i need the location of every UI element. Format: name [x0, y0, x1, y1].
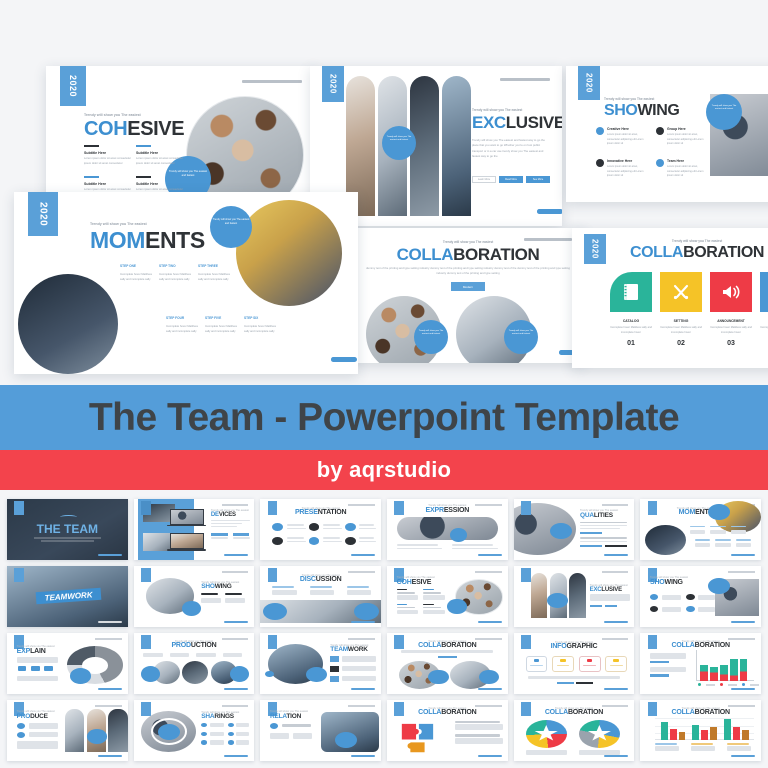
thumb-title-rest: WING	[665, 579, 683, 586]
thumb-devices[interactable]: Trendy will show you The easiest DEVICES	[134, 499, 255, 560]
thumbnail-cell[interactable]: Trendy will show you The easiest RELATIO…	[257, 697, 384, 764]
thumb-title: RELATION	[270, 713, 301, 720]
legend-label	[706, 684, 715, 686]
thumb-title: DISCUSSION	[260, 576, 381, 583]
bullet-dot-icon	[656, 127, 664, 135]
icon-bullet	[345, 523, 356, 531]
text-line	[580, 522, 627, 524]
slide-header-meta	[348, 504, 375, 506]
thumb-collaboration-circles[interactable]: Trendy will show you The easiest COLLABO…	[387, 633, 508, 694]
thumb-title-accent: EXC	[590, 587, 602, 593]
text-line	[736, 543, 752, 547]
thumb-footer-tag	[604, 554, 628, 556]
thumb-footer-tag	[224, 621, 248, 623]
thumb-footer-tag	[731, 755, 755, 757]
thumb-cohesive[interactable]: Trendy will show you The easiest COHESIV…	[387, 566, 508, 627]
thumb-collaboration-stacked-chart[interactable]: Trendy will show you The easiest COLLABO…	[640, 633, 761, 694]
thumb-title-rest: TEAM	[61, 522, 98, 536]
thumb-footer-tag	[478, 688, 502, 690]
icon-bullet	[309, 523, 320, 531]
accent-circle	[547, 593, 568, 608]
slide-photo	[65, 709, 84, 753]
text-line	[323, 541, 342, 542]
thumbnail-cell[interactable]: THE TEAM	[4, 496, 131, 563]
thumb-qualities[interactable]: Trendy will show you The easiest QUALITI…	[514, 499, 635, 560]
card-label	[530, 665, 543, 667]
thumb-showing-2[interactable]: Trendy will show you The easiest SHOWING	[640, 566, 761, 627]
thumb-title-accent: COLLA	[418, 709, 441, 716]
step-label	[736, 539, 752, 540]
text-line	[17, 741, 58, 748]
thumb-title-accent: COLLA	[671, 642, 694, 649]
thumb-title-accent: QUA	[580, 512, 594, 519]
thumb-title-rest: BORATION	[441, 642, 476, 649]
tag-chip-dark	[576, 682, 593, 684]
text-line	[698, 607, 715, 612]
pagination-dots[interactable]	[559, 350, 572, 355]
divider	[423, 604, 434, 605]
chart-bar	[661, 722, 668, 740]
thumb-footer-tag	[98, 621, 122, 623]
thumb-title-rest: TION	[286, 713, 301, 720]
step-body: Incomplete hover Maldives sally and inco…	[205, 324, 243, 334]
bullet-dot-icon	[228, 723, 234, 727]
thumb-sharings[interactable]: Trendy will show you The easiest SHARING…	[134, 700, 255, 761]
circle-caption: Trendy will show you The easiest and fas…	[212, 218, 250, 226]
thumbnail-cell[interactable]: Trendy will show you The easiest EXPLAIN	[4, 630, 131, 697]
thumbnail-cell[interactable]: Trendy will show you The easiest TEAMWOR…	[257, 630, 384, 697]
slide-badge	[141, 568, 151, 581]
slide-header-meta	[222, 571, 249, 573]
thumb-title-accent: PRESE	[295, 509, 318, 516]
thumb-showing-stats[interactable]: Trendy will show you The easiest SHOWING	[134, 566, 255, 627]
list-icon-dark	[330, 666, 338, 672]
text-line	[287, 537, 304, 539]
icon-bullet	[309, 537, 320, 545]
text-line	[287, 541, 306, 542]
column-heading	[272, 586, 294, 588]
text-line	[710, 530, 726, 534]
thumb-footer-tag	[731, 688, 755, 690]
tag-chip	[605, 605, 617, 607]
thumb-title-accent: COLLA	[545, 709, 568, 716]
card-number: 02	[660, 340, 702, 347]
tools-icon	[672, 283, 690, 301]
text-line	[225, 598, 244, 603]
chart-legend	[698, 683, 759, 686]
thumb-collaboration-puzzle[interactable]: Trendy will show you The easiest COLLABO…	[387, 700, 508, 761]
thumb-footer-tag	[604, 688, 628, 690]
poster-canvas: 2020 Trendy will show you The easiest CO…	[0, 0, 768, 768]
text-line	[211, 537, 228, 538]
feature-column: Subtitle Here Lorem ipsum dolor sit amet…	[84, 145, 132, 166]
hero-slide-collaboration-photos[interactable]: Trendy will show you The easiest COLLABO…	[352, 228, 584, 363]
chart-bar	[720, 665, 728, 680]
step-item: STEP SIX Incomplete hover Maldives sally…	[244, 316, 282, 334]
feature-heading: Subtitle Here	[84, 182, 132, 186]
bar-chart	[696, 650, 754, 681]
text-line	[359, 528, 376, 529]
bullet-dot-icon	[201, 732, 207, 736]
slide-photo	[531, 573, 548, 618]
legend-swatch	[720, 683, 723, 686]
slide-header-meta	[222, 504, 249, 506]
step-label: STEP THREE	[198, 264, 236, 268]
thumb-collaboration-grouped-chart[interactable]: Trendy will show you The easiest COLLABO…	[640, 700, 761, 761]
see-more-button[interactable]: See More	[526, 176, 550, 183]
slide-badge	[14, 501, 24, 514]
text-line	[526, 750, 567, 755]
text-line	[690, 530, 706, 534]
thumb-title-rest: ESSION	[444, 507, 469, 514]
slide-header-meta	[602, 571, 629, 573]
feature-card[interactable]: CATALOG Incomplete hover Maldives sally …	[610, 272, 652, 347]
step-label	[695, 539, 711, 540]
slide-badge	[141, 501, 151, 514]
slide-badge	[141, 702, 151, 715]
thumbnail-cell[interactable]: Trendy will show you The easiest INFOGRA…	[511, 630, 638, 697]
step-body: Incomplete hover Maldives sally and inco…	[120, 272, 158, 282]
thumb-title-rest: RINGS	[214, 713, 234, 720]
thumbnail-cell[interactable]: Trendy will show you The easiest PRESENT…	[257, 496, 384, 563]
text-line	[580, 525, 627, 526]
bullet-dot-icon	[270, 723, 278, 729]
thumb-production[interactable]: Trendy will show you The easiest PRODUCT…	[134, 633, 255, 694]
pagination-dots[interactable]	[537, 209, 550, 214]
icon-bullet	[272, 523, 283, 531]
slide-title-accent: EXC	[472, 113, 506, 132]
hero-slide-collaboration-icons[interactable]: 2020 Trendy will show you The easiest CO…	[572, 228, 768, 368]
device-screen	[170, 509, 204, 525]
slide-title-rest: BORATION	[453, 245, 539, 264]
hero-slide-cohesive[interactable]: 2020 Trendy will show you The easiest CO…	[46, 66, 316, 211]
thumbnail-cell[interactable]: Trendy will show you The easiest COHESIV…	[384, 563, 511, 630]
feature-body: Lorem ipsum dolor sit amet, consectetur …	[667, 165, 708, 179]
thumb-title-rest: LUSIVE	[601, 587, 621, 593]
thumbnail-cell[interactable]: TEAMWORK	[4, 563, 131, 630]
text-line	[590, 594, 630, 601]
text-line	[17, 657, 58, 662]
text-line	[233, 537, 250, 538]
step-item: STEP THREE Incomplete hover Maldives sal…	[198, 264, 236, 282]
step-body: Incomplete hover Maldives sally and inco…	[159, 272, 197, 282]
step-label: STEP SIX	[244, 316, 282, 320]
circle-caption: Trendy will show you The easiest and fas…	[416, 330, 446, 337]
text-line	[650, 667, 686, 672]
thumbnail-cell[interactable]: Trendy will show you The easiest DEVICES	[131, 496, 258, 563]
text-line	[143, 653, 162, 657]
thumbnail-cell[interactable]: Trendy will show you The easiest MOMENTS	[637, 496, 764, 563]
step-item: STEP ONE Incomplete hover Maldives sally…	[120, 264, 158, 282]
thumb-title-rest: BORATION	[695, 709, 730, 716]
chart-bar	[701, 730, 708, 740]
circle-caption: Trendy will show you The easiest and fas…	[384, 136, 414, 143]
thumb-discussion[interactable]: Trendy will show you The easiest DISCUSS…	[260, 566, 381, 627]
tag-chip	[233, 533, 250, 535]
feature-heading: Subtitle Here	[84, 151, 132, 155]
hero-slide-moments[interactable]: 2020 Trendy will show you The easiest MO…	[14, 192, 358, 374]
accent-circle	[230, 666, 249, 682]
card-body: Incomplete hover Maldives sally and inco…	[660, 326, 702, 335]
read-more-button[interactable]: Read More	[499, 176, 523, 183]
thumb-explain[interactable]: Trendy will show you The easiest EXPLAIN	[7, 633, 128, 694]
thumb-collaboration-donuts[interactable]: Trendy will show you The easiest COLLABO…	[514, 700, 635, 761]
thumb-title: EXCLUSIVE	[590, 587, 622, 593]
legend-swatch	[742, 683, 745, 686]
thumb-footer-tag	[731, 621, 755, 623]
thumb-infographic[interactable]: Trendy will show you The easiest INFOGRA…	[514, 633, 635, 694]
info-card[interactable]	[579, 656, 601, 672]
divider	[423, 589, 434, 590]
mini-icon	[18, 666, 26, 671]
thumb-produce[interactable]: Trendy will show you The easiest PRODUCE	[7, 700, 128, 761]
thumb-title-accent: TEAM	[44, 592, 67, 603]
thumbnail-cell[interactable]: Trendy will show you The easiest COLLABO…	[384, 630, 511, 697]
slide-header-meta	[602, 638, 629, 640]
modern-button[interactable]: Modern	[451, 282, 485, 291]
accent-circle	[210, 206, 252, 248]
slide-header-meta	[222, 705, 249, 707]
bullet-dot-icon	[596, 159, 604, 167]
slide-photo	[569, 573, 586, 618]
slide-header-meta	[602, 504, 629, 506]
thumb-footer-tag	[478, 621, 502, 623]
chart-gridline	[655, 718, 754, 719]
text-line	[455, 738, 503, 744]
thumb-footer-tag	[478, 554, 502, 556]
thumb-title-accent: SHA	[201, 713, 214, 720]
thumb-title-accent: INFO	[551, 643, 567, 650]
slide-photo	[236, 200, 342, 306]
icon-tile	[710, 272, 752, 312]
slide-title: MOMENTS	[90, 227, 205, 254]
feature-card[interactable]: ANNOUNCEMENT Incomplete hover Maldives s…	[710, 272, 752, 347]
text-line	[423, 595, 445, 599]
slide-badge	[521, 501, 531, 514]
text-line	[236, 740, 249, 744]
thumb-title-rest: UCTION	[191, 642, 217, 649]
slide-kicker: Trendy will show you The easiest	[612, 239, 768, 243]
text-line	[236, 723, 249, 727]
thumb-title-accent: PROD	[171, 642, 190, 649]
text-line	[236, 732, 249, 736]
step-body: Incomplete hover Maldives sally and inco…	[166, 324, 204, 334]
thumb-title-rest: DUCE	[30, 713, 48, 720]
thumb-footer-tag	[731, 554, 755, 556]
slide-title-accent: MOM	[90, 227, 145, 253]
pagination-dots[interactable]	[331, 357, 344, 362]
text-line	[342, 656, 376, 661]
text-line	[727, 746, 751, 751]
text-line	[211, 520, 250, 521]
tag-chip	[580, 545, 602, 547]
bullet-dot-icon	[201, 740, 207, 744]
text-line	[310, 590, 334, 595]
accent-circle	[708, 578, 730, 594]
slide-title-accent: COLLA	[397, 245, 454, 264]
thumb-title-rest: BORATION	[568, 709, 603, 716]
thumb-teamwork-cover[interactable]: TEAMWORK	[7, 566, 128, 627]
accent-circle	[708, 504, 730, 520]
feature-card[interactable]: AGENDA Incomplete hover Maldives sally a…	[760, 272, 768, 347]
hero-slide-showing[interactable]: 2020 Trendy will show you The easiest SH…	[566, 66, 768, 202]
divider	[397, 604, 408, 605]
bullet-dot-icon	[17, 732, 25, 738]
thumb-footer-tag	[351, 755, 375, 757]
accent-circle	[306, 667, 327, 682]
chart-bar	[710, 667, 718, 680]
card-label: CATALOG	[610, 319, 652, 323]
text-line	[210, 723, 224, 727]
chart-bar	[742, 730, 749, 740]
text-line	[17, 676, 58, 681]
bullet-dot-icon	[228, 740, 234, 744]
thumbnail-cell[interactable]: Trendy will show you The easiest EXCLUSI…	[511, 563, 638, 630]
step-item: STEP TWO Incomplete hover Maldives sally…	[159, 264, 197, 282]
thumb-title-rest: VICES	[219, 512, 236, 518]
thumb-title-accent: THE	[37, 522, 61, 536]
info-card[interactable]	[605, 656, 627, 672]
thumb-footer-tag	[478, 755, 502, 757]
thumbnail-cell[interactable]: Trendy will show you The easiest SHOWING	[131, 563, 258, 630]
card-label: ANNOUNCEMENT	[710, 319, 752, 323]
feature-heading: Subtitle Here	[136, 182, 184, 186]
thumbnail-cell[interactable]: Trendy will show you The easiest PRODUCE	[4, 697, 131, 764]
thumbnail-cell[interactable]: Trendy will show you The easiest SHARING…	[131, 697, 258, 764]
text-line	[455, 724, 503, 730]
thumb-exclusive[interactable]: Trendy will show you The easiest EXCLUSI…	[514, 566, 635, 627]
column-heading	[347, 586, 369, 588]
slide-title: COLLABORATION	[612, 244, 768, 262]
thumb-title-rest: WORK	[348, 646, 368, 653]
card-body: Incomplete hover Maldives sally and inco…	[610, 326, 652, 335]
thumb-relation[interactable]: Trendy will show you The easiest RELATIO…	[260, 700, 381, 761]
thumb-footer-tag	[224, 554, 248, 556]
bullet-dot-icon	[201, 723, 207, 727]
icon-tile	[760, 272, 768, 312]
text-line	[662, 607, 681, 612]
slide-photo	[108, 709, 127, 753]
thumb-title-rest: WORK	[67, 590, 93, 601]
thumbnail-cell[interactable]: Trendy will show you The easiest PRODUCT…	[131, 630, 258, 697]
text-line	[655, 746, 679, 751]
accent-circle	[447, 599, 466, 614]
text-line	[282, 724, 311, 726]
thumb-footer-tag	[351, 621, 375, 623]
info-card[interactable]	[552, 656, 574, 672]
thumb-title: DEVICES	[211, 512, 236, 518]
slide-badge	[14, 568, 24, 581]
thumb-title: EXPRESSION	[387, 507, 508, 514]
step-label	[715, 539, 731, 540]
device-base	[167, 549, 206, 551]
slide-body: Trendy will show you The easiest and fas…	[472, 138, 550, 159]
text-line	[397, 548, 443, 549]
thumbnail-cell[interactable]: Trendy will show you The easiest SHOWING	[637, 563, 764, 630]
feature-body: Lorem ipsum dolor sit amet consectetur i…	[84, 157, 132, 166]
thumbnail-cell[interactable]: Trendy will show you The easiest COLLABO…	[384, 697, 511, 764]
thumb-subline	[34, 537, 102, 539]
thumb-teamwork-list[interactable]: Trendy will show you The easiest TEAMWOR…	[260, 633, 381, 694]
column-heading	[423, 607, 441, 609]
text-line	[452, 548, 498, 549]
thumb-footer-tag	[351, 688, 375, 690]
notebook-icon	[623, 283, 639, 301]
slide-title-rest: LUSIVE	[506, 113, 562, 132]
thumb-the-team[interactable]: THE TEAM	[7, 499, 128, 560]
thumb-title-accent: COLLA	[418, 642, 441, 649]
slide-title-accent: COH	[84, 118, 127, 140]
feature-card[interactable]: SETTING Incomplete hover Maldives sally …	[660, 272, 702, 347]
slide-title-rest: ESIVE	[127, 118, 184, 140]
legend-label	[728, 684, 737, 686]
feature-label: Team Here	[667, 159, 708, 163]
megaphone-icon	[722, 284, 741, 300]
slide-title-rest: BORATION	[683, 244, 764, 261]
thumb-title: SHOWING	[650, 579, 683, 586]
thumbnail-cell[interactable]: Trendy will show you The easiest COLLABO…	[511, 697, 638, 764]
thumbnail-cell[interactable]: Trendy will show you The easiest COLLABO…	[637, 697, 764, 764]
slide-header-meta	[348, 638, 375, 640]
chart-bar	[692, 725, 699, 740]
bullet-dot-icon	[686, 594, 694, 600]
text-line	[452, 544, 493, 546]
column-heading	[397, 592, 415, 594]
slide-kicker: Trendy will show you The easiest	[84, 113, 141, 117]
tag-chip	[211, 533, 228, 535]
chart-bar	[730, 659, 738, 680]
year-badge: 2020	[322, 66, 344, 102]
tag-chip	[650, 661, 669, 663]
text-line	[423, 610, 445, 614]
slide-photo	[442, 76, 471, 216]
thumbnail-cell[interactable]: Trendy will show you The easiest QUALITI…	[511, 496, 638, 563]
text-line	[455, 721, 501, 723]
text-line	[210, 740, 224, 744]
thumbnail-cell[interactable]: Trendy will show you The easiest COLLABO…	[637, 630, 764, 697]
tag-chip-dark	[605, 545, 627, 547]
slide-title-rest: ENTS	[145, 227, 205, 253]
slide-header-meta	[95, 638, 122, 640]
year-badge: 2020	[28, 192, 58, 236]
accent-circle	[382, 126, 416, 160]
info-card[interactable]	[526, 656, 548, 672]
thumbnail-cell[interactable]: Trendy will show you The easiest DISCUSS…	[257, 563, 384, 630]
thumb-expression[interactable]: Trendy will show you The easiest EXPRESS…	[387, 499, 508, 560]
thumb-title: QUALITIES	[580, 512, 613, 519]
card-label	[583, 665, 596, 667]
text-line	[359, 524, 373, 526]
feature-item: Group Here Lorem ipsum dolor sit amet, c…	[656, 127, 708, 147]
thumb-title-accent: COLLA	[671, 709, 694, 716]
slide-title: SHOWING	[604, 102, 679, 120]
year-badge: 2020	[578, 66, 600, 100]
thumb-title-rest: GRAPHIC	[567, 643, 598, 650]
thumb-title-accent: DE	[211, 512, 219, 518]
learn-more-button[interactable]: Learn More	[472, 176, 496, 183]
bullet-dot-icon	[650, 594, 658, 600]
text-line	[170, 653, 189, 657]
slide-photo	[645, 525, 686, 556]
thumb-presentation[interactable]: Trendy will show you The easiest PRESENT…	[260, 499, 381, 560]
thumbnail-cell[interactable]: Trendy will show you The easiest EXPRESS…	[384, 496, 511, 563]
icon-bullet	[345, 537, 356, 545]
thumb-title-rest: BORATION	[441, 709, 476, 716]
thumb-moments[interactable]: Trendy will show you The easiest MOMENTS	[640, 499, 761, 560]
text-line	[211, 523, 242, 524]
feature-body: Lorem ipsum dolor sit amet, consectetur …	[607, 165, 648, 179]
thumb-title-accent: COH	[397, 579, 412, 586]
